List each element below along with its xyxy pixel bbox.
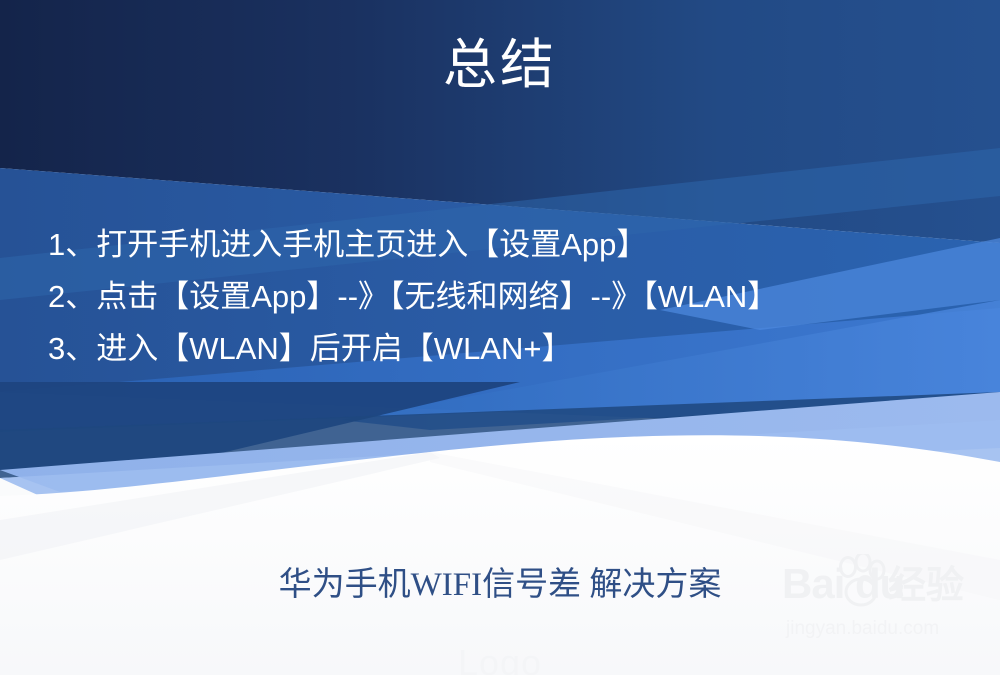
slide-title: 总结 [0, 33, 1000, 97]
list-item: 1、打开手机进入手机主页进入【设置App】 [48, 219, 978, 271]
paw-print-icon [830, 554, 894, 612]
list-item: 3、进入【WLAN】后开启【WLAN+】 [48, 323, 978, 375]
list-item: 2、点击【设置App】--》【无线和网络】--》【WLAN】 [48, 271, 978, 323]
watermark-brand-row: Bai du 经验 [782, 556, 997, 612]
presentation-slide: 总结 1、打开手机进入手机主页进入【设置App】 2、点击【设置App】--》【… [0, 0, 1000, 675]
watermark-url: jingyan.baidu.com [786, 618, 939, 640]
slide-bullet-list: 1、打开手机进入手机主页进入【设置App】 2、点击【设置App】--》【无线和… [48, 219, 978, 375]
baidu-jingyan-watermark: Bai du 经验 jingyan.baidu.com [782, 556, 997, 646]
watermark-brand-cn: 经验 [888, 564, 964, 608]
logo-placeholder-text: Logo [0, 643, 1000, 675]
